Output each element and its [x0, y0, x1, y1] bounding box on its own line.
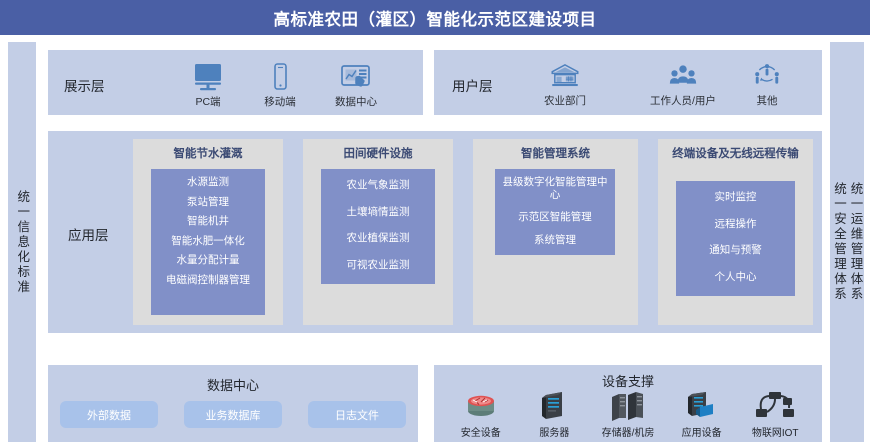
- data-center-panel: 数据中心 外部数据 业务数据库 日志文件: [48, 365, 418, 442]
- equipment-support-panel: 设备支撑 安全设备: [434, 365, 822, 442]
- app-item[interactable]: 个人中心: [676, 271, 795, 284]
- user-item-other[interactable]: 其他: [750, 59, 784, 108]
- user-item-staff-label: 工作人员/用户: [650, 93, 716, 108]
- app-card-items: 农业气象监测 土壤墒情监测 农业植保监测 可视农业监测: [321, 169, 435, 284]
- app-item[interactable]: 智能机井: [151, 215, 265, 228]
- equipment-item-storage[interactable]: 存储器/机房: [591, 389, 665, 439]
- equipment-item-security[interactable]: 安全设备: [444, 389, 518, 439]
- router-security-icon: [461, 389, 501, 423]
- data-center-pill[interactable]: 外部数据: [60, 401, 158, 428]
- app-item[interactable]: 智能水肥一体化: [151, 235, 265, 248]
- storage-rack-icon: [606, 389, 650, 423]
- app-card-field-hardware[interactable]: 田间硬件设施 农业气象监测 土壤墒情监测 农业植保监测 可视农业监测: [303, 139, 453, 325]
- presentation-layer-label: 展示层: [64, 75, 105, 95]
- app-card-title: 田间硬件设施: [303, 147, 453, 161]
- app-card-title: 智能节水灌溉: [133, 147, 283, 161]
- app-card-items: 县级数字化智能管理中心 示范区智能管理 系统管理: [495, 169, 615, 255]
- architecture-diagram: 高标准农田（灌区）智能化示范区建设项目 统一信息化标准 统一安全管理体系 统一运…: [0, 0, 870, 445]
- app-item[interactable]: 实时监控: [676, 191, 795, 204]
- equipment-item-server-label: 服务器: [539, 424, 569, 439]
- iot-network-icon: [753, 389, 797, 423]
- presentation-item-datacenter-label: 数据中心: [335, 94, 377, 109]
- right-ops-system-label: 统一运维管理体系: [849, 182, 862, 302]
- app-card-terminal-transmission[interactable]: 终端设备及无线远程传输 实时监控 远程操作 通知与预警 个人中心: [658, 139, 813, 325]
- user-item-other-label: 其他: [757, 93, 778, 108]
- app-card-items: 水源监测 泵站管理 智能机井 智能水肥一体化 水量分配计量 电磁阀控制器管理: [151, 169, 265, 315]
- app-card-items: 实时监控 远程操作 通知与预警 个人中心: [676, 181, 795, 296]
- presentation-layer-panel: 展示层 PC端 移动端: [48, 50, 423, 115]
- monitor-icon: [191, 60, 225, 92]
- app-item[interactable]: 系统管理: [495, 234, 615, 247]
- mobile-phone-icon: [263, 60, 297, 92]
- equipment-item-iot-label: 物联网IOT: [752, 424, 799, 439]
- presentation-item-pc-label: PC端: [195, 94, 220, 109]
- application-layer-panel: 应用层 智能节水灌溉 水源监测 泵站管理 智能机井 智能水肥一体化 水量分配计量…: [48, 131, 822, 333]
- user-item-agriculture-dept-label: 农业部门: [544, 93, 586, 108]
- app-item[interactable]: 电磁阀控制器管理: [151, 274, 265, 287]
- right-management-bar: 统一安全管理体系 统一运维管理体系: [830, 42, 864, 442]
- equipment-item-storage-label: 存储器/机房: [602, 424, 655, 439]
- app-item[interactable]: 可视农业监测: [321, 259, 435, 272]
- app-item[interactable]: 水量分配计量: [151, 254, 265, 267]
- app-card-title: 终端设备及无线远程传输: [658, 147, 813, 161]
- equipment-item-application[interactable]: 应用设备: [665, 389, 739, 439]
- server-tower-icon: [534, 389, 574, 423]
- users-group-icon: [666, 59, 700, 91]
- equipment-support-row: 安全设备 服务器: [444, 389, 812, 439]
- app-item[interactable]: 农业植保监测: [321, 232, 435, 245]
- equipment-item-security-label: 安全设备: [461, 424, 501, 439]
- app-item[interactable]: 远程操作: [676, 218, 795, 231]
- app-item[interactable]: 县级数字化智能管理中心: [495, 176, 615, 201]
- presentation-item-datacenter[interactable]: 数据中心: [335, 60, 377, 109]
- left-standard-bar: 统一信息化标准: [8, 42, 36, 442]
- app-item[interactable]: 农业气象监测: [321, 179, 435, 192]
- user-layer-panel: 用户层 农业部门: [434, 50, 822, 115]
- left-standard-bar-label: 统一信息化标准: [16, 190, 29, 295]
- data-center-pill[interactable]: 日志文件: [308, 401, 406, 428]
- equipment-item-server[interactable]: 服务器: [518, 389, 592, 439]
- application-layer-label: 应用层: [68, 224, 109, 244]
- government-building-icon: [548, 59, 582, 91]
- app-card-title: 智能管理系统: [473, 147, 638, 161]
- right-security-system-label: 统一安全管理体系: [833, 182, 846, 302]
- presentation-item-mobile-label: 移动端: [264, 94, 296, 109]
- app-item[interactable]: 示范区智能管理: [495, 211, 615, 224]
- page-title-bar: 高标准农田（灌区）智能化示范区建设项目: [0, 0, 870, 35]
- equipment-item-iot[interactable]: 物联网IOT: [738, 389, 812, 439]
- data-center-pill-row: 外部数据 业务数据库 日志文件: [60, 401, 406, 428]
- equipment-support-title: 设备支撑: [434, 371, 822, 390]
- app-card-smart-management[interactable]: 智能管理系统 县级数字化智能管理中心 示范区智能管理 系统管理: [473, 139, 638, 325]
- presentation-item-mobile[interactable]: 移动端: [263, 60, 297, 109]
- app-item[interactable]: 水源监测: [151, 176, 265, 189]
- app-item[interactable]: 土壤墒情监测: [321, 206, 435, 219]
- application-device-icon: [680, 389, 724, 423]
- dashboard-touch-icon: [339, 60, 373, 92]
- data-center-pill[interactable]: 业务数据库: [184, 401, 282, 428]
- app-item[interactable]: 通知与预警: [676, 244, 795, 257]
- user-item-agriculture-dept[interactable]: 农业部门: [544, 59, 586, 108]
- presentation-item-pc[interactable]: PC端: [191, 60, 225, 109]
- user-layer-label: 用户层: [452, 75, 493, 95]
- app-card-smart-irrigation[interactable]: 智能节水灌溉 水源监测 泵站管理 智能机井 智能水肥一体化 水量分配计量 电磁阀…: [133, 139, 283, 325]
- page-title: 高标准农田（灌区）智能化示范区建设项目: [274, 6, 597, 30]
- app-item[interactable]: 泵站管理: [151, 196, 265, 209]
- data-center-title: 数据中心: [48, 375, 418, 394]
- equipment-item-application-label: 应用设备: [682, 424, 722, 439]
- user-item-staff[interactable]: 工作人员/用户: [650, 59, 716, 108]
- people-cycle-icon: [750, 59, 784, 91]
